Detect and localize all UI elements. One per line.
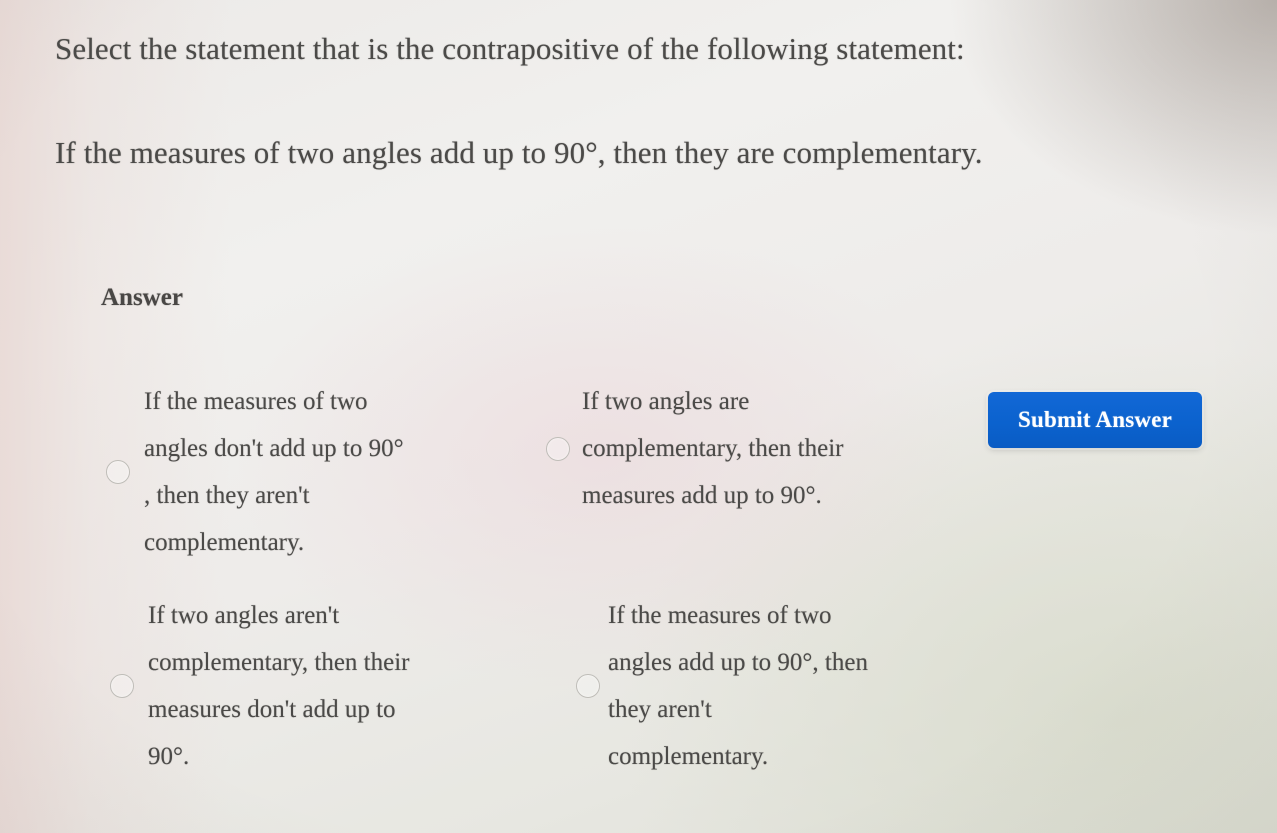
answer-option-a[interactable]: If the measures of two angles don't add … xyxy=(100,378,536,566)
answer-option-c-label: If two angles aren't complementary, then… xyxy=(148,592,409,780)
answer-option-d-label: If the measures of two angles add up to … xyxy=(608,592,868,780)
answer-option-d[interactable]: If the measures of two angles add up to … xyxy=(536,592,970,780)
radio-unselected-icon[interactable] xyxy=(110,674,134,698)
question-prompt-line-1: Select the statement that is the contrap… xyxy=(55,27,965,71)
answer-section-heading: Answer xyxy=(101,284,183,312)
page-content: Select the statement that is the contrap… xyxy=(0,0,1277,833)
answer-option-a-label: If the measures of two angles don't add … xyxy=(144,378,404,566)
radio-unselected-icon[interactable] xyxy=(106,460,130,484)
answer-options-row-1: If the measures of two angles don't add … xyxy=(100,378,970,566)
answer-option-b-label: If two angles are complementary, then th… xyxy=(582,378,843,519)
answer-option-c[interactable]: If two angles aren't complementary, then… xyxy=(100,592,536,780)
radio-unselected-icon[interactable] xyxy=(576,674,600,698)
answer-options-row-2: If two angles aren't complementary, then… xyxy=(100,592,970,780)
answer-options-grid: If the measures of two angles don't add … xyxy=(100,378,970,780)
answer-option-b[interactable]: If two angles are complementary, then th… xyxy=(536,378,970,519)
question-statement-line: If the measures of two angles add up to … xyxy=(55,131,983,175)
radio-unselected-icon[interactable] xyxy=(546,437,570,461)
submit-answer-button[interactable]: Submit Answer xyxy=(988,392,1202,448)
